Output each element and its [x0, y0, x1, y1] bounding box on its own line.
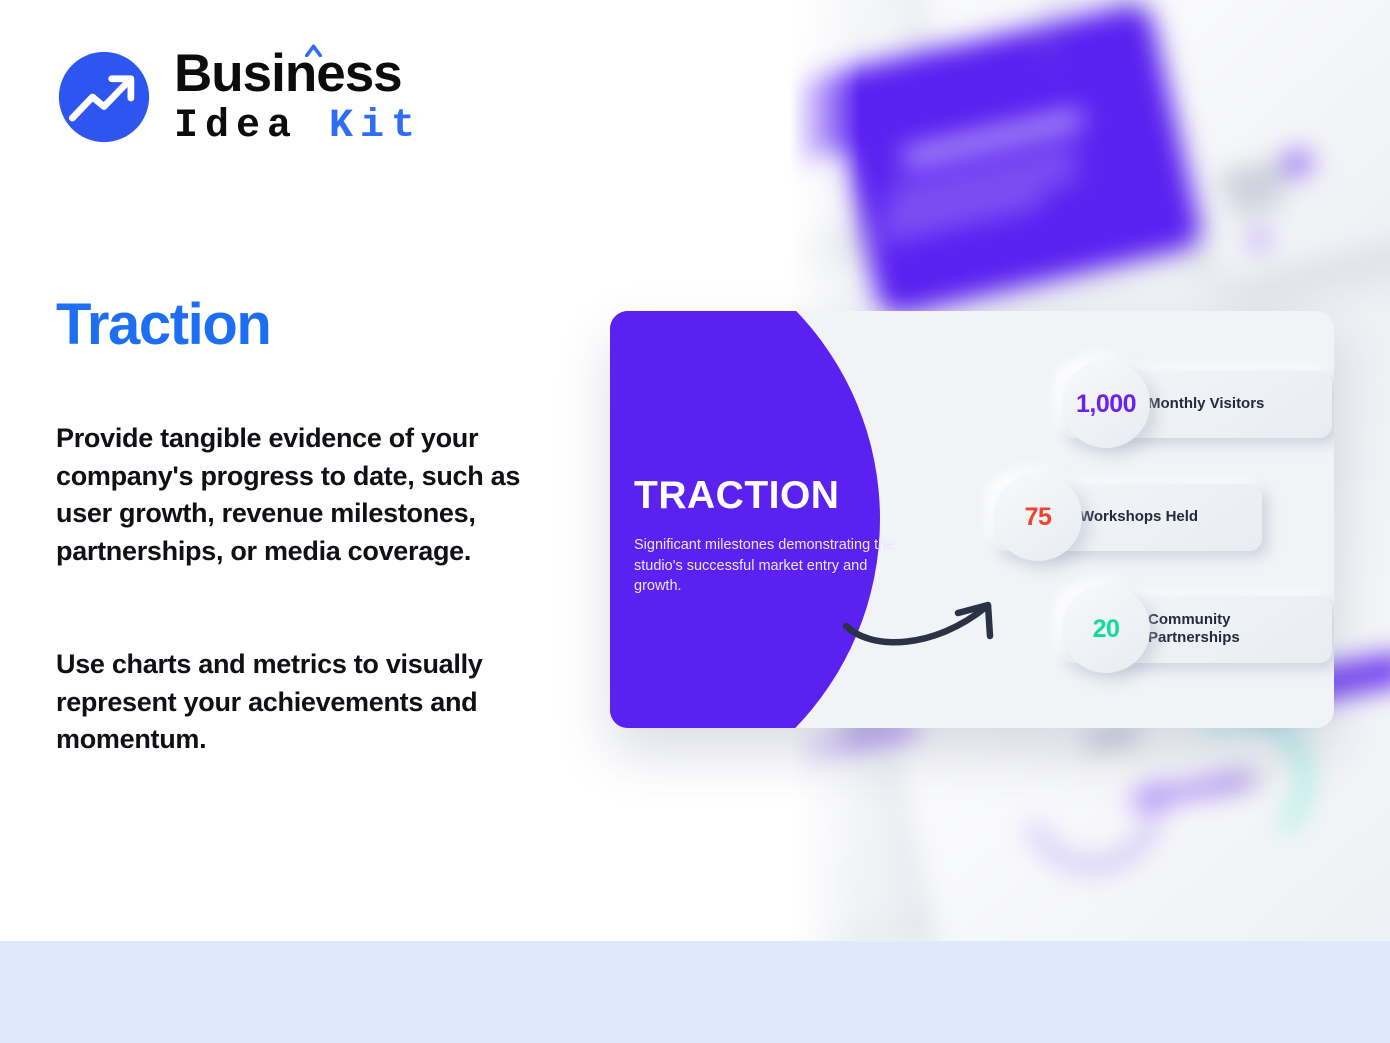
background-dot — [1250, 230, 1268, 248]
stat-value: 20 — [1093, 615, 1120, 644]
caret-accent-icon — [305, 44, 322, 57]
background-dot — [1285, 150, 1311, 176]
stat-label: Community Partnerships — [1148, 611, 1268, 648]
brand-name-bottom: Idea Kit — [174, 107, 422, 147]
card-title: TRACTION — [634, 474, 839, 518]
brand-name-idea: Idea — [174, 104, 298, 149]
footer-band — [0, 941, 1390, 1043]
growth-chart-circle-icon — [56, 49, 152, 145]
stat-row-community-partnerships[interactable]: Community Partnerships 20 — [1062, 585, 1332, 673]
brand-name-top: Business — [174, 47, 422, 100]
stat-value: 1,000 — [1076, 390, 1136, 419]
stat-row-workshops-held[interactable]: Workshops Held 75 — [994, 473, 1262, 561]
body-paragraph-1: Provide tangible evidence of your compan… — [56, 420, 566, 570]
page-title: Traction — [56, 295, 270, 356]
slide-root: Business Idea Kit Traction Provide tangi… — [0, 0, 1390, 1043]
left-content-column: Business Idea Kit Traction Provide tangi… — [0, 0, 600, 941]
card-purple-blob — [610, 311, 880, 728]
traction-card: TRACTION Significant milestones demonstr… — [610, 311, 1334, 728]
stat-label: Workshops Held — [1080, 508, 1198, 526]
stat-circle: 75 — [994, 473, 1082, 561]
stat-row-monthly-visitors[interactable]: Monthly Visitors 1,000 — [1062, 360, 1332, 448]
stat-circle: 20 — [1062, 585, 1150, 673]
brand-wordmark: Business Idea Kit — [174, 47, 422, 147]
brand-logo: Business Idea Kit — [56, 47, 422, 147]
stat-label: Monthly Visitors — [1148, 395, 1264, 413]
stat-value: 75 — [1025, 503, 1052, 532]
brand-name-kit: Kit — [329, 104, 422, 149]
stat-circle: 1,000 — [1062, 360, 1150, 448]
body-paragraph-2: Use charts and metrics to visually repre… — [56, 646, 566, 759]
brand-name-top-text: Business — [174, 44, 402, 103]
stats-list: Monthly Visitors 1,000 Workshops Held 75… — [974, 311, 1334, 728]
card-subtitle: Significant milestones demonstrating the… — [634, 535, 896, 597]
